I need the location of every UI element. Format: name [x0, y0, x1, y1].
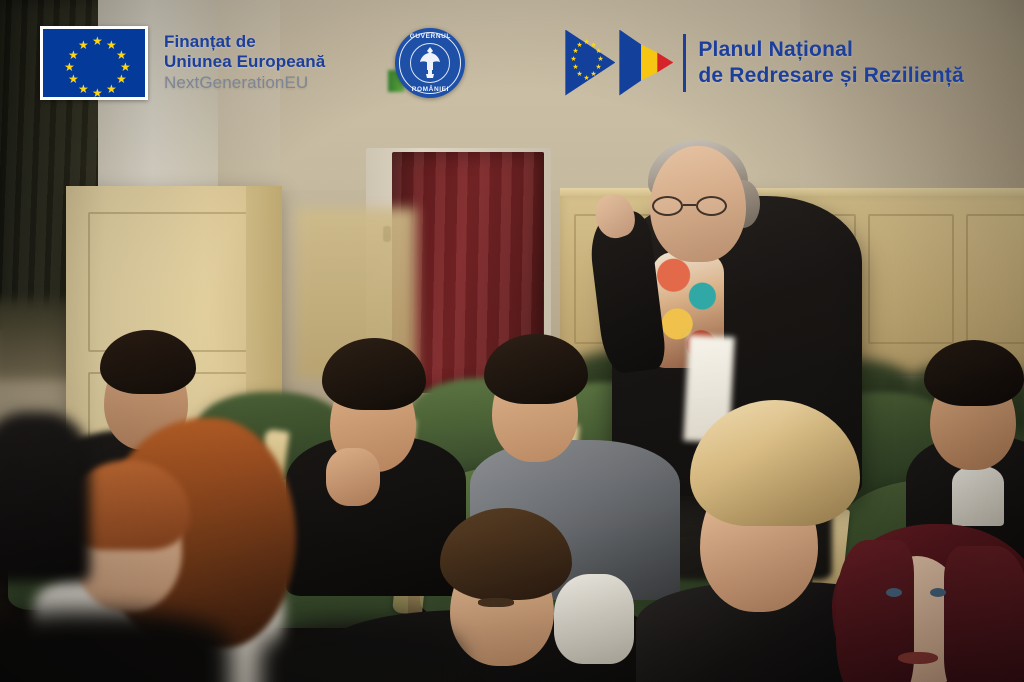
lips	[898, 652, 938, 664]
seal-text-top: GUVERNUL	[395, 33, 465, 40]
guvernul-romaniei-seal-icon: GUVERNUL ROMÂNIEI	[395, 28, 465, 98]
romania-triangle	[619, 30, 673, 96]
pnrr-divider	[683, 34, 686, 92]
foreground-silhouette-far-left	[0, 412, 90, 582]
pnrr-arrows-icon: ★ ★ ★ ★ ★ ★ ★ ★ ★ ★ ★ ★	[565, 30, 673, 96]
glasses-icon	[652, 196, 730, 216]
romania-blue-stripe	[619, 30, 641, 96]
glasses-lens-right	[696, 196, 727, 216]
eye-left	[886, 588, 902, 597]
white-shirt	[952, 466, 1004, 526]
glasses-bridge	[683, 204, 696, 206]
pnrr-line-2: de Redresare și Reziliență	[698, 63, 964, 88]
eu-triangle-stars: ★ ★ ★ ★ ★ ★ ★ ★ ★ ★ ★ ★	[565, 30, 615, 96]
eu-line-3: NextGenerationEU	[164, 73, 325, 93]
eu-funding-logo: ★ ★ ★ ★ ★ ★ ★ ★ ★ ★ ★ ★ Finanțat de Uniu…	[40, 26, 325, 100]
romania-yellow-stripe	[641, 30, 657, 96]
foreground-silhouette-left	[0, 612, 230, 682]
funding-logo-bar: ★ ★ ★ ★ ★ ★ ★ ★ ★ ★ ★ ★ Finanțat de Uniu…	[0, 0, 1024, 125]
white-hood	[554, 574, 634, 664]
photo-canvas: ★ ★ ★ ★ ★ ★ ★ ★ ★ ★ ★ ★ Finanțat de Uniu…	[0, 0, 1024, 682]
romania-red-stripe	[657, 30, 673, 96]
eu-funding-text: Finanțat de Uniunea Europeană NextGenera…	[164, 32, 325, 93]
eagle-icon	[415, 46, 445, 80]
pnrr-text: Planul Național de Redresare și Rezilien…	[698, 37, 964, 87]
eu-line-2: Uniunea Europeană	[164, 52, 325, 72]
seal-text-bottom: ROMÂNIEI	[395, 86, 465, 93]
column-panel-upper	[88, 212, 259, 352]
hair-strand-right	[944, 546, 1024, 682]
eye-right	[930, 588, 946, 597]
pnrr-logo: ★ ★ ★ ★ ★ ★ ★ ★ ★ ★ ★ ★	[565, 30, 964, 96]
mustache	[478, 598, 514, 607]
eu-flag-icon: ★ ★ ★ ★ ★ ★ ★ ★ ★ ★ ★ ★	[40, 26, 148, 100]
wainscot-panel	[966, 214, 1024, 344]
pnrr-line-1: Planul Național	[698, 37, 964, 62]
eu-line-1: Finanțat de	[164, 32, 325, 52]
wainscot-panel	[868, 214, 954, 344]
foreground-silhouette-centre	[260, 624, 460, 682]
hand-on-chin	[326, 448, 380, 506]
glasses-lens-left	[652, 196, 683, 216]
